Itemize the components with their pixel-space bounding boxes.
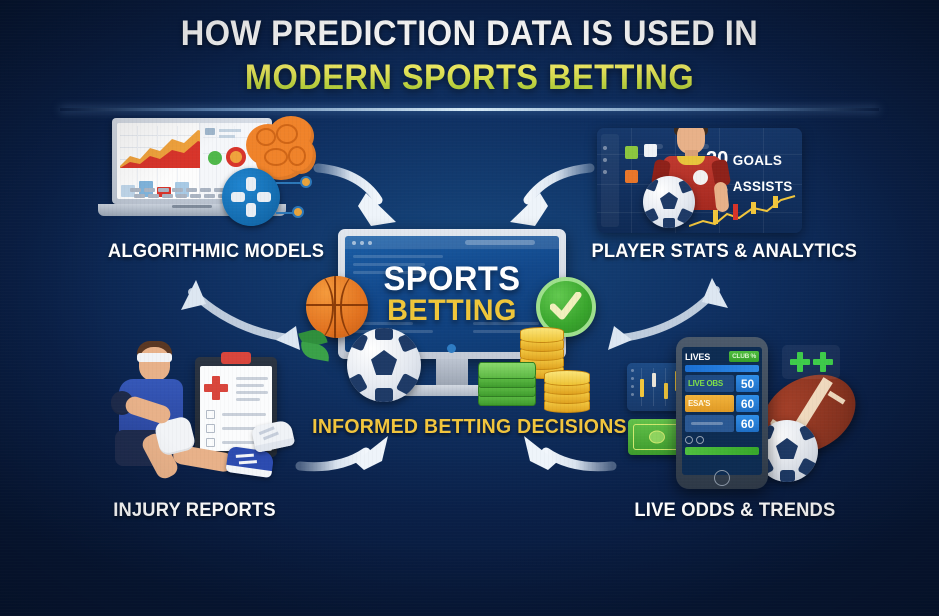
title-block: HOW PREDICTION DATA IS USED IN MODERN SP… [0,14,939,97]
title-line-2: MODERN SPORTS BETTING [33,58,906,97]
coin-stack-icon-2 [544,362,590,412]
stat-assists-unit: ASSISTS [733,179,793,194]
soccer-ball-icon-center [347,328,421,402]
odds-row-2[interactable]: ESA'S 60 [685,395,759,412]
phone-header-badge[interactable]: CLUB % [729,351,759,362]
arrow-live-to-center [524,436,612,470]
odds-row-1-value: 50 [736,375,759,392]
odds-row-2-value: 60 [736,395,759,412]
soccer-player-icon [649,128,741,232]
odds-row-3-value: 60 [736,415,759,432]
smartphone-icon: LIVES CLUB % LIVE OBS 50 ESA'S 60 60 [676,337,768,489]
title-divider [60,108,879,111]
basketball-icon [306,276,368,338]
leaf-accent-2 [299,342,331,362]
sidebar-label-algorithmic-models: ALGORITHMIC MODELS [108,240,324,263]
phone-screen: LIVES CLUB % LIVE OBS 50 ESA'S 60 60 [682,347,762,475]
arrow-algorithmic-to-center [318,168,396,226]
phone-action-icon-2[interactable] [696,436,704,444]
player-stats-panel: 20 GOALS 12 ASSISTS [597,128,802,233]
network-node-icon [222,168,280,226]
cash-stack-icon [478,352,536,408]
phone-header-label: LIVES [685,352,710,362]
odds-row-1-label: LIVE OBS [685,375,734,392]
clipboard-clip [221,352,251,364]
soccer-ball-icon [643,176,695,228]
odds-row-1[interactable]: LIVE OBS 50 [685,375,759,392]
monitor-neck [436,359,468,387]
title-line-1: HOW PREDICTION DATA IS USED IN [33,14,906,53]
phone-cta-button[interactable] [685,447,759,455]
sidebar-label-player-stats: PLAYER STATS & ANALYTICS [591,240,857,263]
odds-row-2-label: ESA'S [685,395,734,412]
phone-home-button[interactable] [714,470,730,486]
plus-symbols-badge [782,345,840,379]
arrow-injury-to-center [300,436,388,470]
legend-swatch-green [625,146,638,159]
monitor-power-led [447,344,456,353]
headband-icon [137,353,172,362]
odds-row-3-label [685,415,734,432]
phone-action-icon-1[interactable] [685,436,693,444]
phone-progress-bar [685,365,759,372]
odds-row-3[interactable]: 60 [685,415,759,432]
sidebar-label-injury-reports: INJURY REPORTS [113,499,276,522]
arrow-player-to-center [510,168,590,226]
red-cross-icon [204,384,228,392]
injured-athlete-icon [103,337,293,489]
legend-swatch-orange [625,170,638,183]
sidebar-label-live-odds: LIVE ODDS & TRENDS [634,499,835,522]
infographic-canvas: HOW PREDICTION DATA IS USED IN MODERN SP… [0,0,939,616]
